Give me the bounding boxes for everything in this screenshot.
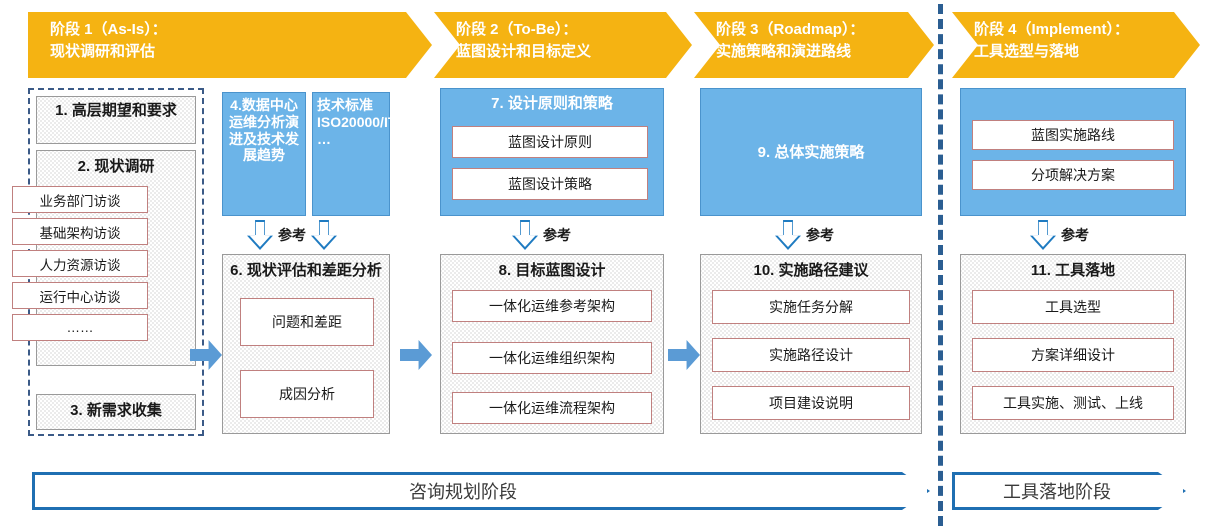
box-8-title: 8. 目标蓝图设计 <box>441 255 663 281</box>
box-2-title: 2. 现状调研 <box>37 151 195 177</box>
survey-item-business-dept[interactable]: 业务部门访谈 <box>12 186 148 213</box>
reference-label: 参考 <box>1061 225 1089 245</box>
item-project-construction-description[interactable]: 项目建设说明 <box>712 386 910 420</box>
footer-label-right: 工具落地阶段 <box>1003 478 1111 504</box>
box-9-overall-implementation-strategy: 9. 总体实施策略 <box>700 88 922 216</box>
survey-item-ellipsis[interactable]: …… <box>12 314 148 341</box>
survey-item-infrastructure[interactable]: 基础架构访谈 <box>12 218 148 245</box>
box-7-title: 7. 设计原则和策略 <box>441 89 663 114</box>
phase-banner-1-line1: 阶段 1（As-Is）： <box>50 19 432 41</box>
phase-banner-4: 阶段 4（Implement）： 工具选型与落地 <box>952 12 1200 78</box>
item-implementation-path-design[interactable]: 实施路径设计 <box>712 338 910 372</box>
phase-banner-2: 阶段 2（To-Be）： 蓝图设计和目标定义 <box>434 12 692 78</box>
box-technical-standards: 技术标准ISO20000/ITSS/ITIL… … <box>312 92 390 216</box>
reference-arrow-column-4: 参考 <box>775 220 839 250</box>
phase-banner-3-line1: 阶段 3（Roadmap）： <box>716 19 934 41</box>
footer-banner-consulting-phase: 咨询规划阶段 <box>32 472 930 510</box>
item-problems-and-gaps[interactable]: 问题和差距 <box>240 298 374 346</box>
reference-label: 参考 <box>543 225 571 245</box>
box-6-title: 6. 现状评估和差距分析 <box>223 255 389 281</box>
box-3-new-requirements-collection: 3. 新需求收集 <box>36 394 196 430</box>
phase-banner-2-line2: 蓝图设计和目标定义 <box>456 41 692 63</box>
footer-label-left: 咨询规划阶段 <box>409 478 517 504</box>
reference-label: 参考 <box>278 225 306 245</box>
item-blueprint-design-strategy[interactable]: 蓝图设计策略 <box>452 168 648 200</box>
box-4-datacenter-ops-trends: 4.数据中心运维分析演进及技术发展趋势 <box>222 92 306 216</box>
item-tool-implement-test-launch[interactable]: 工具实施、测试、上线 <box>972 386 1174 420</box>
reference-arrow-column-5: 参考 <box>1030 220 1094 250</box>
box-10-title: 10. 实施路径建议 <box>701 255 921 281</box>
item-blueprint-implementation-roadmap[interactable]: 蓝图实施路线 <box>972 120 1174 150</box>
down-arrow-icon <box>311 220 337 250</box>
survey-item-operations-center[interactable]: 运行中心访谈 <box>12 282 148 309</box>
item-detailed-solution-design[interactable]: 方案详细设计 <box>972 338 1174 372</box>
box-1-high-level-expectations: 1. 高层期望和要求 <box>36 96 196 144</box>
phase-banner-2-line1: 阶段 2（To-Be）： <box>456 19 692 41</box>
item-subitem-solution[interactable]: 分项解决方案 <box>972 160 1174 190</box>
phase-banner-3: 阶段 3（Roadmap）： 实施策略和演进路线 <box>694 12 934 78</box>
survey-item-hr[interactable]: 人力资源访谈 <box>12 250 148 277</box>
phase-banner-4-line1: 阶段 4（Implement）： <box>974 19 1200 41</box>
phase-banner-1: 阶段 1（As-Is）： 现状调研和评估 <box>28 12 432 78</box>
right-arrow-icon-3 <box>668 340 700 370</box>
box-11-title: 11. 工具落地 <box>961 255 1185 281</box>
down-arrow-icon <box>1030 220 1056 250</box>
phase-banner-1-line2: 现状调研和评估 <box>50 41 432 63</box>
item-integrated-ops-process-arch[interactable]: 一体化运维流程架构 <box>452 392 652 424</box>
box-1-title: 1. 高层期望和要求 <box>37 97 195 121</box>
phase-banner-4-line2: 工具选型与落地 <box>974 41 1200 63</box>
box-9-title: 9. 总体实施策略 <box>701 89 921 162</box>
item-tool-selection[interactable]: 工具选型 <box>972 290 1174 324</box>
reference-arrow-column-3: 参考 <box>512 220 576 250</box>
down-arrow-icon <box>247 220 273 250</box>
phase-divider-dashed-line <box>938 4 943 526</box>
reference-label: 参考 <box>806 225 834 245</box>
phase-banner-3-line2: 实施策略和演进路线 <box>716 41 934 63</box>
down-arrow-icon <box>775 220 801 250</box>
item-blueprint-design-principle[interactable]: 蓝图设计原则 <box>452 126 648 158</box>
box-blueprint-implementation-panel <box>960 88 1186 216</box>
item-task-breakdown[interactable]: 实施任务分解 <box>712 290 910 324</box>
right-arrow-icon-2 <box>400 340 432 370</box>
item-integrated-ops-reference-arch[interactable]: 一体化运维参考架构 <box>452 290 652 322</box>
footer-banner-tool-landing-phase: 工具落地阶段 <box>952 472 1186 510</box>
item-integrated-ops-org-arch[interactable]: 一体化运维组织架构 <box>452 342 652 374</box>
down-arrow-icon <box>512 220 538 250</box>
reference-arrows-column-2: 参考 <box>247 220 337 250</box>
box-3-title: 3. 新需求收集 <box>37 395 195 421</box>
item-root-cause-analysis[interactable]: 成因分析 <box>240 370 374 418</box>
